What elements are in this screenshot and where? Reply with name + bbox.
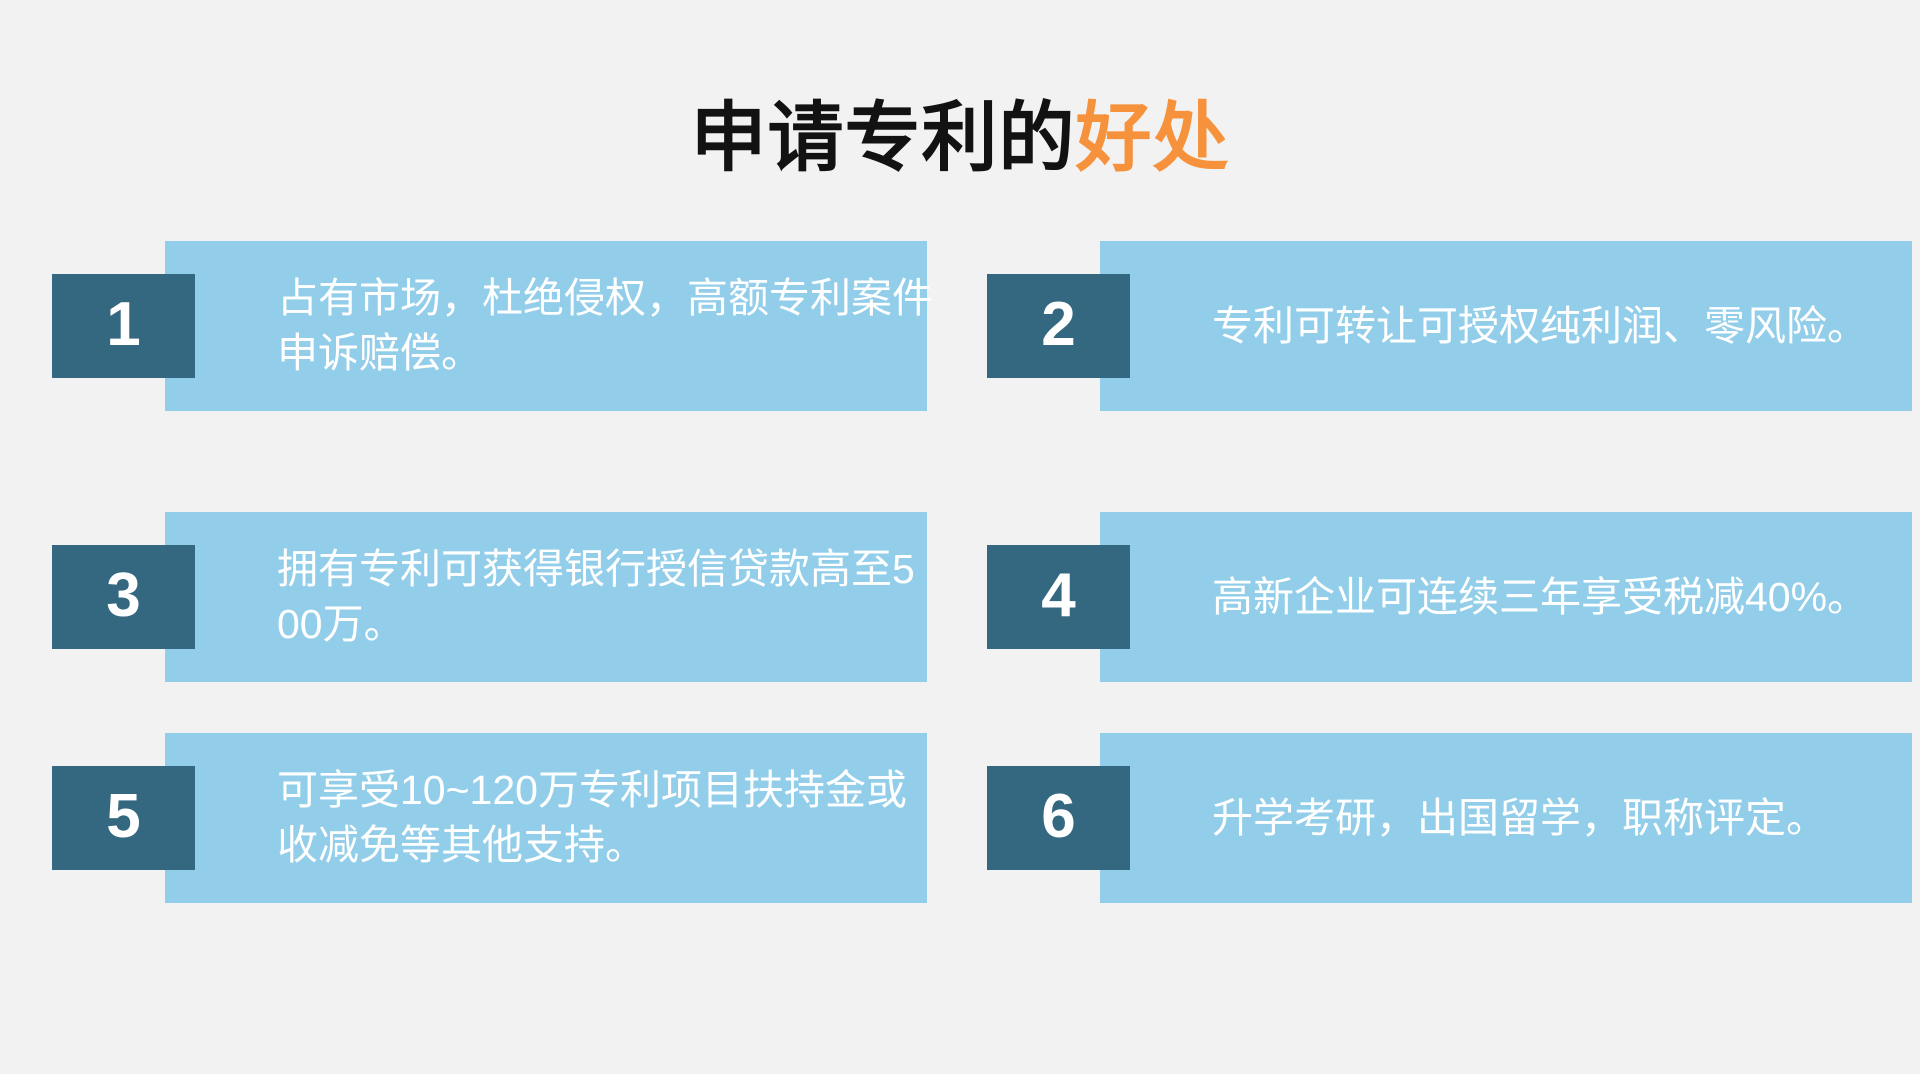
page-title-prefix: 申请专利的 [691, 96, 1076, 181]
benefit-card-6-number-box: 6 [987, 766, 1130, 870]
benefit-card-3-number-box: 3 [52, 545, 195, 649]
page-title-accent: 好处 [1076, 96, 1230, 181]
benefit-card-1-number: 1 [106, 294, 140, 358]
benefit-card-1-number-box: 1 [52, 274, 195, 378]
benefit-card-4-number: 4 [1041, 565, 1075, 629]
benefit-card-2-text: 专利可转让可授权纯利润、零风险。 [1212, 299, 1868, 354]
benefit-card-5-number-box: 5 [52, 766, 195, 870]
benefit-card-4-body: 高新企业可连续三年享受税减40%。 [1212, 512, 1912, 682]
page-title: 申请专利的好处 [0, 96, 1920, 182]
benefit-card-3-body: 拥有专利可获得银行授信贷款高至500万。 [277, 512, 937, 682]
infographic-canvas: 申请专利的好处 占有市场，杜绝侵权，高额专利案件申诉赔偿。 1 专利可转让可授权… [0, 0, 1920, 1074]
benefit-card-6-text: 升学考研，出国留学，职称评定。 [1212, 791, 1827, 846]
benefit-card-3-number: 3 [106, 565, 140, 629]
benefit-card-1-body: 占有市场，杜绝侵权，高额专利案件申诉赔偿。 [277, 241, 937, 411]
benefit-card-3-text: 拥有专利可获得银行授信贷款高至500万。 [277, 542, 937, 652]
benefit-card-2-number-box: 2 [987, 274, 1130, 378]
benefit-card-1-text: 占有市场，杜绝侵权，高额专利案件申诉赔偿。 [277, 271, 937, 381]
benefit-card-5-body: 可享受10~120万专利项目扶持金或收减免等其他支持。 [277, 733, 937, 903]
benefit-card-6-number: 6 [1041, 786, 1075, 850]
benefit-card-2-body: 专利可转让可授权纯利润、零风险。 [1212, 241, 1912, 411]
benefit-card-4-text: 高新企业可连续三年享受税减40%。 [1212, 570, 1868, 625]
benefit-card-2-number: 2 [1041, 294, 1075, 358]
benefit-card-6-body: 升学考研，出国留学，职称评定。 [1212, 733, 1912, 903]
benefit-card-4-number-box: 4 [987, 545, 1130, 649]
benefit-card-5-text: 可享受10~120万专利项目扶持金或收减免等其他支持。 [277, 763, 937, 873]
benefit-card-5-number: 5 [106, 786, 140, 850]
